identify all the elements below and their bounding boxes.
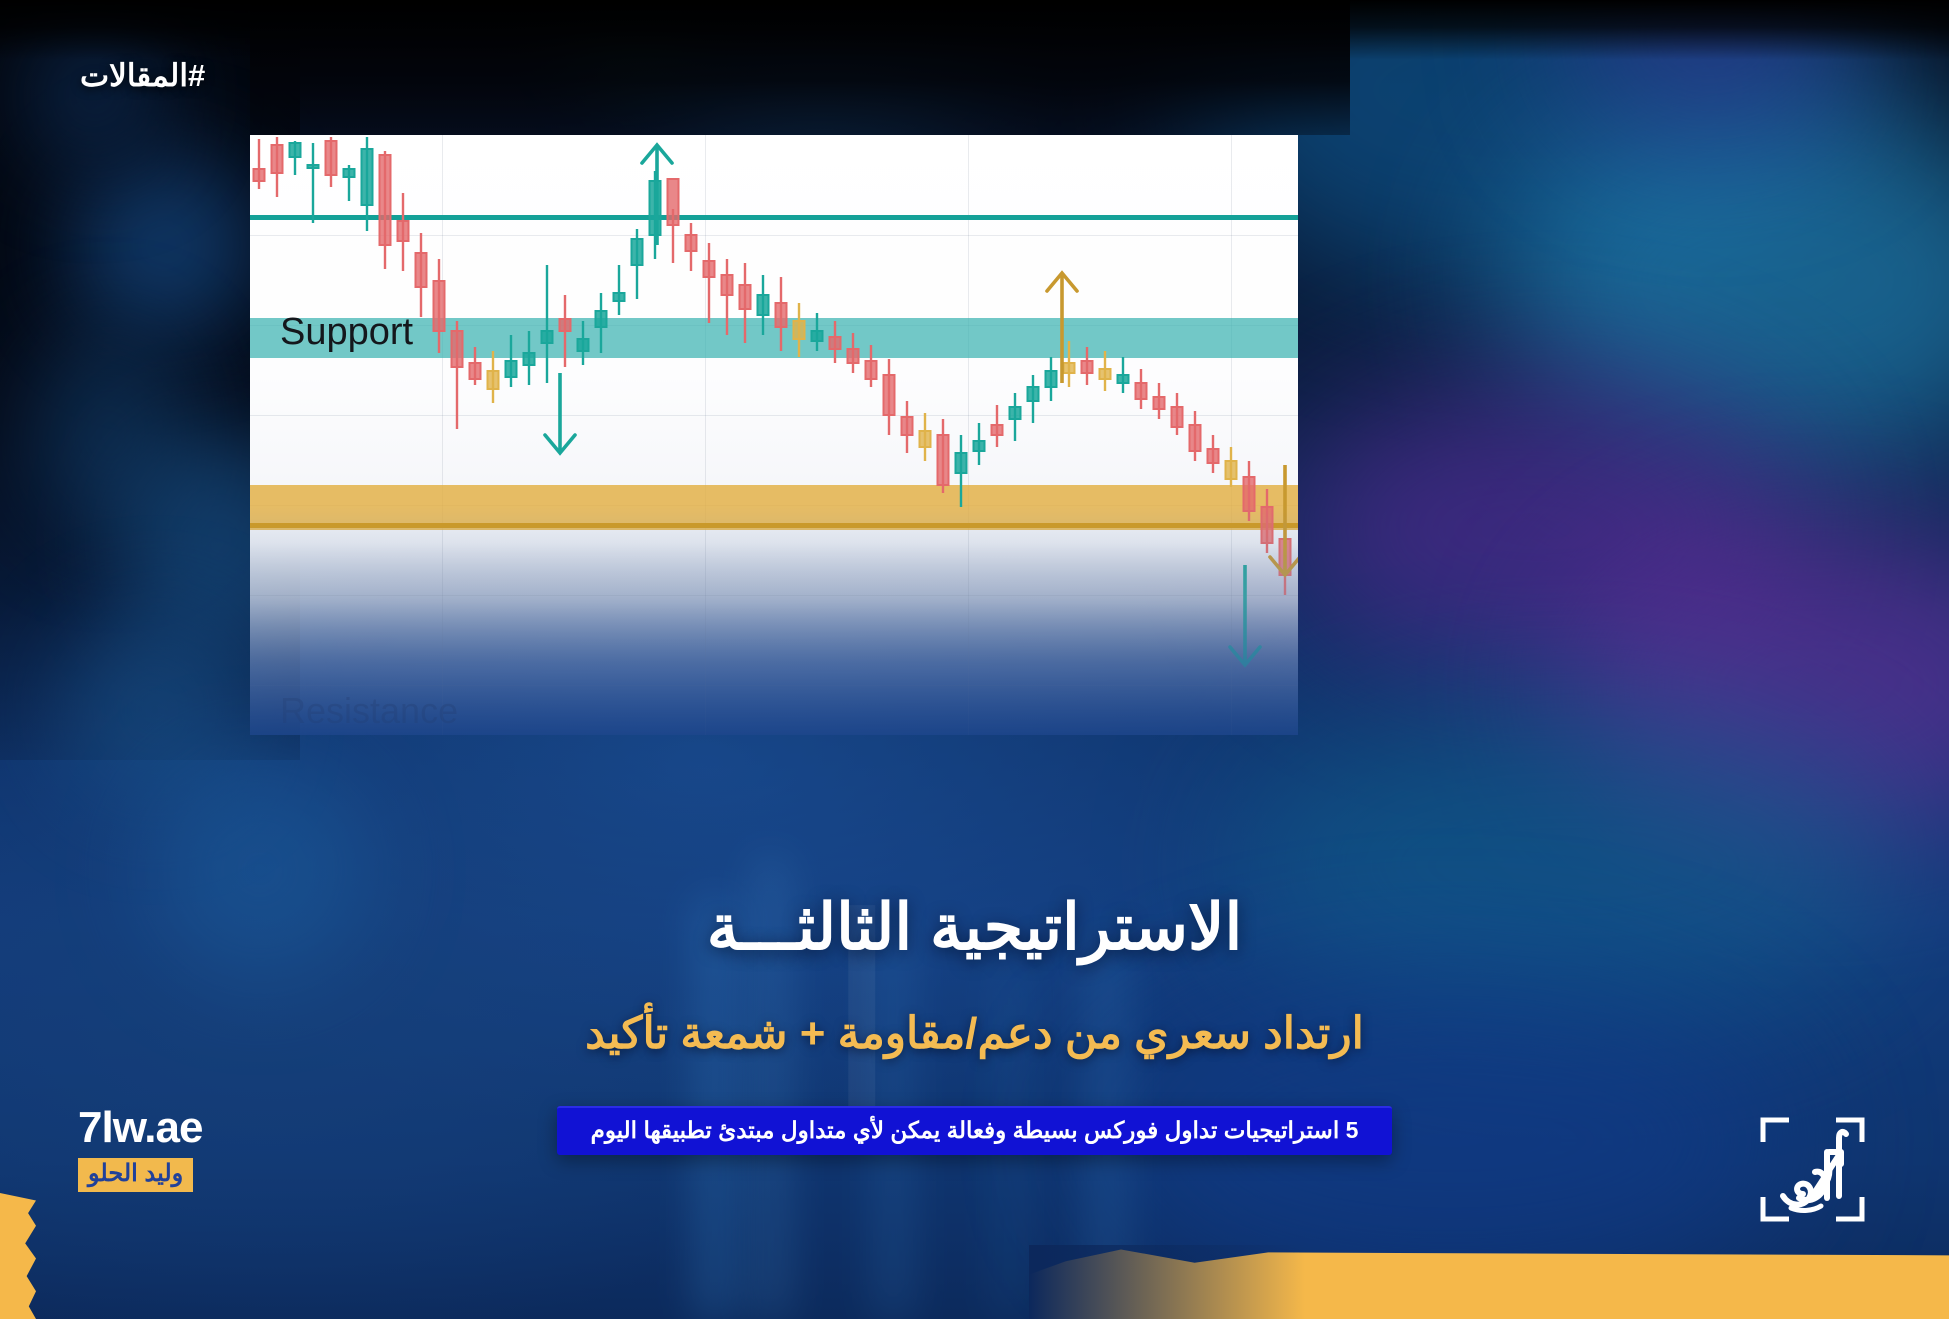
gold-brush-fade [1029, 1245, 1949, 1319]
hashtag-label: #المقالات [80, 58, 205, 94]
brand-name: وليد الحلو [78, 1158, 193, 1192]
top-shadow-overlay [250, 0, 1350, 135]
candlestick-chart: Support Resistance [250, 135, 1298, 735]
candles-layer [250, 135, 1298, 735]
bokeh-blob [1230, 700, 1910, 1030]
page-subtitle: ارتداد سعري من دعم/مقاومة + شمعة تأكيد [0, 1008, 1949, 1059]
page-title: الاستراتيجية الثالثـــة [0, 890, 1949, 965]
bokeh-blob [70, 150, 260, 340]
description-banner: 5 استراتيجيات تداول فوركس بسيطة وفعالة ي… [557, 1106, 1393, 1155]
brand-logo [1755, 1112, 1870, 1227]
support-label: Support [280, 311, 413, 354]
logo-icon [1755, 1112, 1870, 1227]
brand-block: 7lw.ae وليد الحلو [78, 1104, 202, 1192]
banner-wrapper: 5 استراتيجيات تداول فوركس بسيطة وفعالة ي… [0, 1106, 1949, 1155]
brand-domain[interactable]: 7lw.ae [78, 1104, 202, 1152]
resistance-label: Resistance [280, 690, 458, 732]
